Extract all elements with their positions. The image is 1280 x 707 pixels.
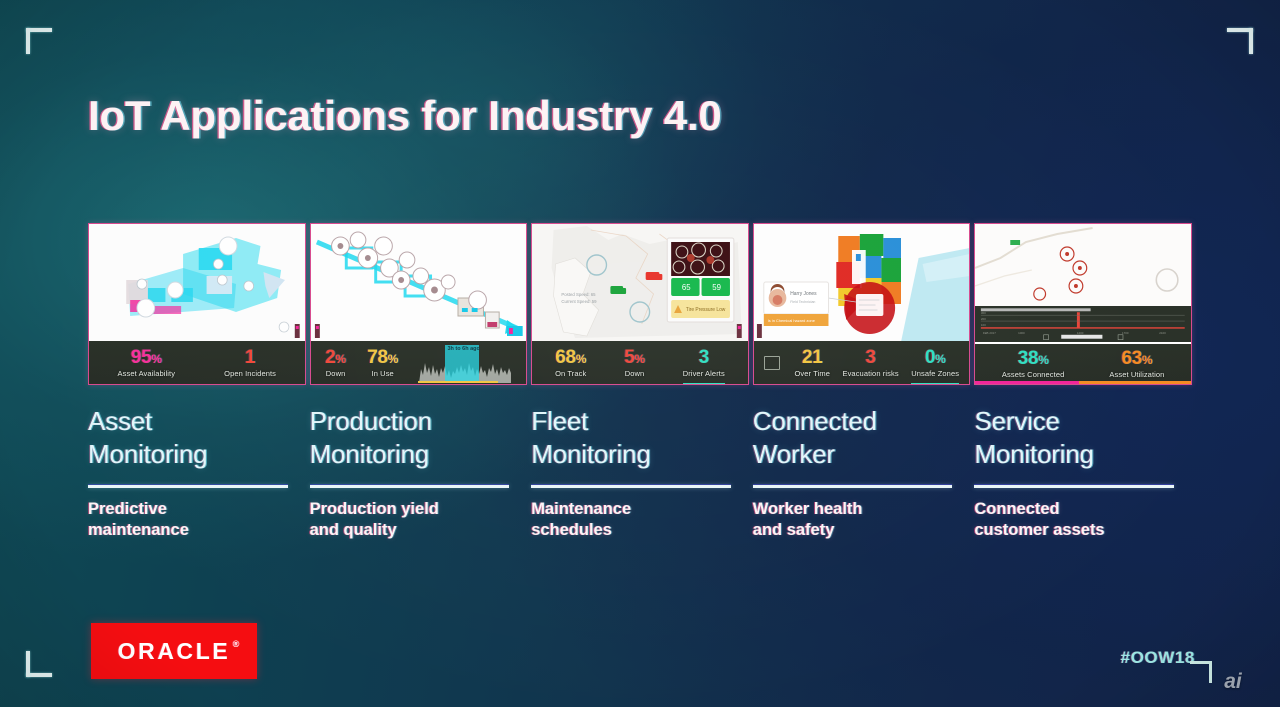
column-subtitle: Worker healthand safety (753, 499, 953, 542)
assets-connected-progress-bar (975, 381, 1078, 384)
metric-bar: 95% Asset Availability 1 Open Incidents (89, 341, 305, 384)
slide-canvas: IoT Applications for Industry 4.0 (0, 0, 1280, 707)
column-production-monitoring: ProductionMonitoring Production yieldand… (310, 405, 528, 541)
divider (974, 485, 1174, 488)
column-fleet-monitoring: FleetMonitoring Maintenanceschedules (531, 405, 749, 541)
corner-bracket-top-left (26, 28, 52, 54)
svg-text:200: 200 (981, 317, 986, 321)
metric-on-track: 68% On Track (555, 348, 586, 378)
divider (310, 485, 510, 488)
metric-evacuation-risks: 3 Evacuation risks (842, 348, 898, 378)
svg-text:Is in Chemical hazard zone: Is in Chemical hazard zone (768, 318, 816, 323)
dashboard-card-fleet-monitoring[interactable]: Posted Speed: 65 Current Speed: 59 (531, 223, 749, 385)
column-title: AssetMonitoring (88, 405, 288, 472)
metric-open-incidents: 1 Open Incidents (224, 348, 276, 378)
column-title: ProductionMonitoring (310, 405, 510, 472)
floor-plan-visual (89, 224, 305, 342)
svg-text:Field Technician: Field Technician (790, 300, 815, 304)
oracle-logo: ORACLE® (91, 623, 257, 679)
metric-unsafe-zones: 0% Unsafe Zones (911, 348, 959, 378)
divider (531, 485, 731, 488)
production-line-visual (311, 224, 527, 342)
dashboard-card-service-monitoring[interactable]: 300200100 FEB 20171000 120017002100 38% … (974, 223, 1192, 385)
metric-in-use: 78% In Use (367, 348, 398, 378)
corner-bracket-top-right (1227, 28, 1253, 54)
svg-text:Current Speed: 59: Current Speed: 59 (562, 299, 598, 304)
metric-asset-utilization: 63% Asset Utilization (1109, 349, 1164, 379)
metric-assets-connected: 38% Assets Connected (1002, 349, 1064, 379)
svg-text:59: 59 (713, 283, 722, 292)
svg-text:65: 65 (682, 283, 691, 292)
column-heading-row: AssetMonitoring Predictivemaintenance Pr… (88, 405, 1192, 541)
dashboard-card-connected-worker[interactable]: Harry Jones Field Technician Is in Chemi… (753, 223, 971, 385)
column-subtitle: Connectedcustomer assets (974, 499, 1174, 542)
watermark-logo: ai (1213, 667, 1253, 697)
svg-text:Posted Speed: 65: Posted Speed: 65 (562, 292, 597, 297)
asset-utilization-progress-bar (1079, 381, 1191, 384)
dashboard-card-row: 95% Asset Availability 1 Open Incidents (88, 223, 1192, 385)
svg-text:2100: 2100 (1160, 331, 1167, 335)
column-subtitle: Maintenanceschedules (531, 499, 731, 542)
column-title: FleetMonitoring (531, 405, 731, 472)
list-view-icon[interactable] (764, 356, 780, 370)
column-subtitle: Production yieldand quality (310, 499, 510, 542)
column-title: ServiceMonitoring (974, 405, 1174, 472)
event-hashtag: #OOW18 (1121, 648, 1195, 668)
metric-bar: 38% Assets Connected 63% Asset Utilizati… (975, 344, 1191, 384)
svg-text:100: 100 (981, 323, 986, 327)
corner-bracket-bottom-left (26, 651, 52, 677)
svg-text:FEB 2017: FEB 2017 (983, 331, 996, 335)
page-title: IoT Applications for Industry 4.0 (88, 92, 722, 140)
oracle-wordmark: ORACLE® (118, 638, 231, 665)
column-connected-worker: ConnectedWorker Worker healthand safety (753, 405, 971, 541)
metric-bar: 68% On Track 5% Down 3 Driver Alerts (532, 341, 748, 384)
divider (88, 485, 288, 488)
metric-bar: 21 Over Time 3 Evacuation risks 0% Unsaf… (754, 341, 970, 384)
sparkline-tooltip: 3h to 6h ago (447, 346, 479, 352)
metric-driver-alerts: 3 Driver Alerts (683, 348, 725, 378)
metric-bar: 2% Down 78% In Use 3h to 6h ago (311, 341, 527, 384)
worker-site-visual: Harry Jones Field Technician Is in Chemi… (754, 224, 970, 342)
svg-text:1700: 1700 (1122, 331, 1129, 335)
dashboard-card-production-monitoring[interactable]: 2% Down 78% In Use 3h to 6h ago (310, 223, 528, 385)
column-subtitle: Predictivemaintenance (88, 499, 288, 542)
worker-info-card: Harry Jones Field Technician Is in Chemi… (764, 282, 829, 326)
svg-text:Harry Jones: Harry Jones (790, 291, 817, 297)
svg-text:Tire Pressure Low: Tire Pressure Low (686, 307, 726, 313)
metric-down: 5% Down (624, 348, 645, 378)
metric-down: 2% Down (325, 348, 346, 378)
column-service-monitoring: ServiceMonitoring Connectedcustomer asse… (974, 405, 1192, 541)
metric-asset-availability: 95% Asset Availability (118, 348, 176, 378)
corner-bracket-bottom-right (1190, 661, 1212, 683)
svg-text:1200: 1200 (1077, 331, 1084, 335)
column-asset-monitoring: AssetMonitoring Predictivemaintenance (88, 405, 306, 541)
fleet-map-visual: Posted Speed: 65 Current Speed: 59 (532, 224, 748, 342)
svg-text:300: 300 (981, 311, 986, 315)
timeline-chart[interactable]: 300200100 FEB 20171000 120017002100 (975, 306, 1191, 342)
dashboard-card-asset-monitoring[interactable]: 95% Asset Availability 1 Open Incidents (88, 223, 306, 385)
service-map-visual (975, 224, 1191, 306)
column-title: ConnectedWorker (753, 405, 953, 472)
usage-sparkline[interactable]: 3h to 6h ago (419, 343, 511, 383)
divider (753, 485, 953, 488)
metric-over-time: 21 Over Time (795, 348, 831, 378)
in-use-progress-bar (418, 381, 498, 383)
svg-text:1000: 1000 (1018, 331, 1025, 335)
